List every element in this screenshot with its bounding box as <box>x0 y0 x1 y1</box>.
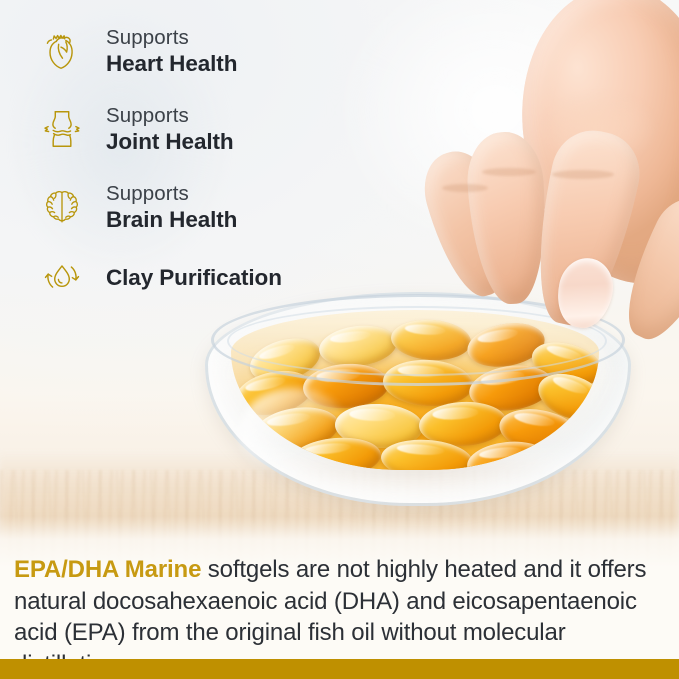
benefit-item-joint-health: Supports Joint Health <box>36 90 366 168</box>
benefit-text: Supports Brain Health <box>106 181 237 233</box>
benefit-text: Supports Heart Health <box>106 25 237 77</box>
benefit-prefix: Supports <box>106 181 237 206</box>
water-droplet-recycle-icon <box>36 251 88 303</box>
benefit-prefix: Supports <box>106 25 237 50</box>
product-name: EPA/DHA Marine <box>14 556 201 583</box>
benefit-title: Brain Health <box>106 206 237 233</box>
knee-joint-icon <box>36 103 88 155</box>
benefit-prefix: Supports <box>106 103 234 128</box>
benefit-title: Clay Purification <box>106 264 282 291</box>
benefit-text: Clay Purification <box>106 264 282 291</box>
anatomical-heart-icon <box>36 25 88 77</box>
benefit-list: Supports Heart Health Supports Joint <box>36 12 366 308</box>
brain-icon <box>36 181 88 233</box>
hand-reaching-for-capsules <box>432 0 679 382</box>
benefit-title: Heart Health <box>106 50 237 77</box>
benefit-text: Supports Joint Health <box>106 103 234 155</box>
benefit-item-clay-purification: Clay Purification <box>36 246 366 308</box>
knuckle-crease <box>442 184 488 192</box>
bottom-gold-bar <box>0 659 679 679</box>
bowl-specular-highlight <box>239 388 349 476</box>
benefit-item-brain-health: Supports Brain Health <box>36 168 366 246</box>
benefit-title: Joint Health <box>106 128 234 155</box>
knuckle-crease <box>552 170 614 179</box>
knuckle-crease <box>482 168 536 176</box>
benefit-item-heart-health: Supports Heart Health <box>36 12 366 90</box>
product-marketing-image: Supports Heart Health Supports Joint <box>0 0 679 679</box>
